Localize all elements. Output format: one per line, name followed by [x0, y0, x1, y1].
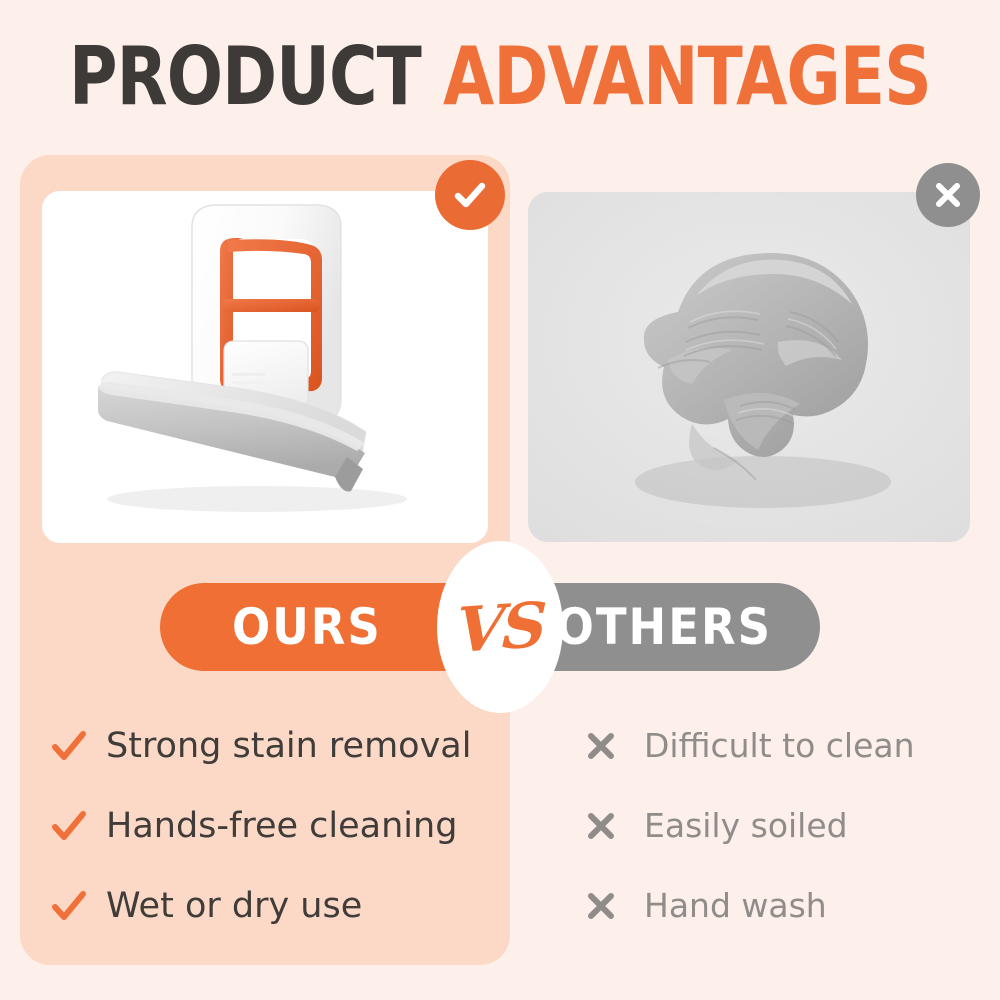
list-item: Strong stain removal [52, 706, 492, 786]
cross-icon [931, 178, 965, 212]
list-item: Hand wash [586, 866, 966, 946]
others-pill-label: OTHERS [556, 598, 772, 656]
ours-product-card [42, 191, 488, 543]
list-item: Easily soiled [586, 786, 966, 866]
product-advantages-infographic: PRODUCT ADVANTAGES [0, 0, 1000, 1000]
page-title-accent: ADVANTAGES [443, 30, 931, 123]
check-icon [52, 891, 106, 921]
list-item-label: Strong stain removal [106, 726, 471, 766]
mop-orange-crossbar [222, 299, 320, 312]
page-title-space [421, 30, 443, 123]
list-item-label: Hands-free cleaning [106, 806, 457, 846]
list-item-label: Easily soiled [644, 806, 848, 846]
page-title-primary: PRODUCT [69, 30, 421, 123]
squeegee-mop-illustration [42, 191, 488, 543]
vs-banner: OTHERS OURS VS [160, 583, 820, 671]
list-item-label: Hand wash [644, 886, 827, 926]
list-item-label: Difficult to clean [644, 726, 915, 766]
vs-label: VS [455, 588, 545, 667]
others-product-card [528, 192, 970, 542]
others-cross-badge [916, 163, 980, 227]
list-item: Difficult to clean [586, 706, 966, 786]
page-title: PRODUCT ADVANTAGES [40, 34, 960, 120]
list-item-label: Wet or dry use [106, 886, 362, 926]
list-item: Wet or dry use [52, 866, 492, 946]
cross-icon [586, 811, 644, 841]
vs-circle: VS [437, 541, 563, 713]
others-feature-list: Difficult to clean Easily soiled Hand wa… [586, 706, 966, 946]
check-icon [52, 811, 106, 841]
ours-product-photo [42, 191, 488, 543]
cross-icon [586, 731, 644, 761]
ours-check-badge [435, 160, 505, 230]
check-icon [52, 731, 106, 761]
ours-feature-list: Strong stain removal Hands-free cleaning… [52, 706, 492, 946]
cross-icon [586, 891, 644, 921]
check-icon [450, 175, 490, 215]
microfiber-towel-illustration [528, 192, 970, 542]
list-item: Hands-free cleaning [52, 786, 492, 866]
ours-pill-label: OURS [232, 598, 382, 656]
